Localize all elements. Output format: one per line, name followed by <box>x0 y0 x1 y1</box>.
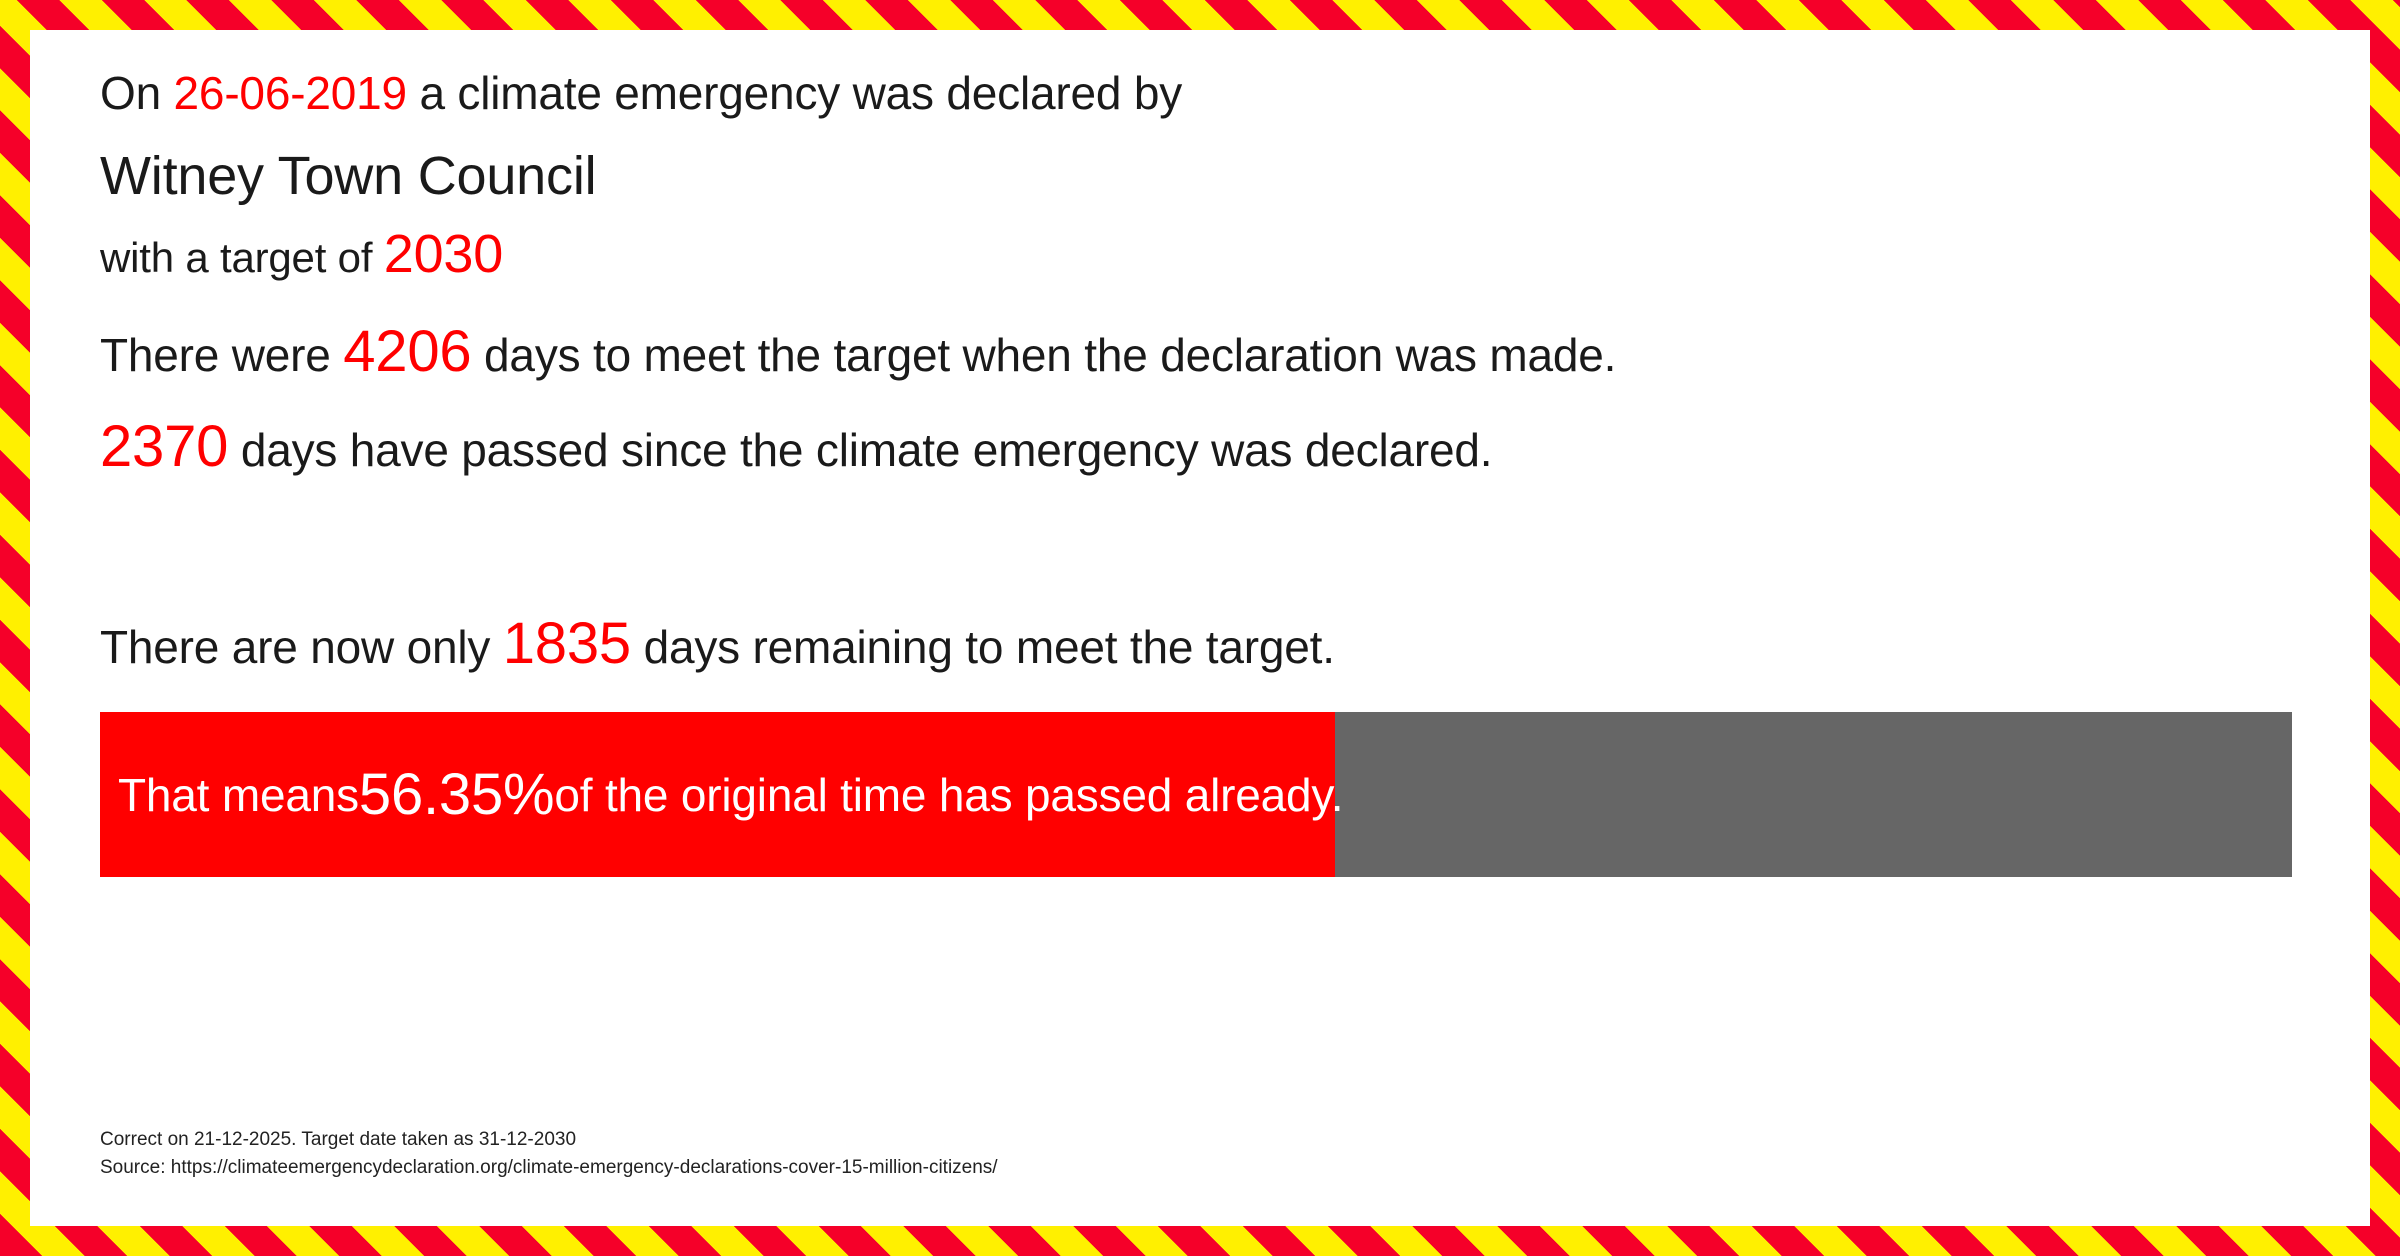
poster-card: On 26-06-2019 a climate emergency was de… <box>30 30 2370 1226</box>
days-to-meet-value: 4206 <box>343 319 471 384</box>
declaration-headline: On 26-06-2019 a climate emergency was de… <box>100 66 1182 120</box>
footer-source: Source: https://climateemergencydeclarat… <box>100 1154 998 1182</box>
declaration-prefix: On <box>100 67 174 119</box>
footer-correct-on: Correct on 21-12-2025. Target date taken… <box>100 1126 998 1154</box>
council-name: Witney Town Council <box>100 145 596 207</box>
declaration-suffix: a climate emergency was declared by <box>407 67 1182 119</box>
footer-notes: Correct on 21-12-2025. Target date taken… <box>100 1126 998 1181</box>
days-passed-value: 2370 <box>100 414 228 479</box>
days-remaining-value: 1835 <box>503 611 631 676</box>
days-to-meet-suffix: days to meet the target when the declara… <box>471 329 1616 381</box>
progress-percent: 56.35% <box>359 761 555 828</box>
days-to-meet-prefix: There were <box>100 329 343 381</box>
target-year: 2030 <box>384 224 503 284</box>
hazard-border-frame: On 26-06-2019 a climate emergency was de… <box>0 0 2400 1256</box>
days-remaining-line: There are now only 1835 days remaining t… <box>100 610 1335 677</box>
days-passed-suffix: days have passed since the climate emerg… <box>228 424 1492 476</box>
days-to-meet-line: There were 4206 days to meet the target … <box>100 318 1616 385</box>
progress-prefix: That means <box>118 768 359 822</box>
progress-bar-label: That means 56.35% of the original time h… <box>118 712 1343 877</box>
days-remaining-suffix: days remaining to meet the target. <box>631 621 1335 673</box>
progress-bar: That means 56.35% of the original time h… <box>100 712 2292 877</box>
progress-suffix: of the original time has passed already. <box>554 768 1343 822</box>
days-remaining-prefix: There are now only <box>100 621 503 673</box>
target-line: with a target of 2030 <box>100 223 503 285</box>
declaration-date: 26-06-2019 <box>174 67 407 119</box>
days-passed-line: 2370 days have passed since the climate … <box>100 413 1492 480</box>
target-prefix: with a target of <box>100 234 384 281</box>
